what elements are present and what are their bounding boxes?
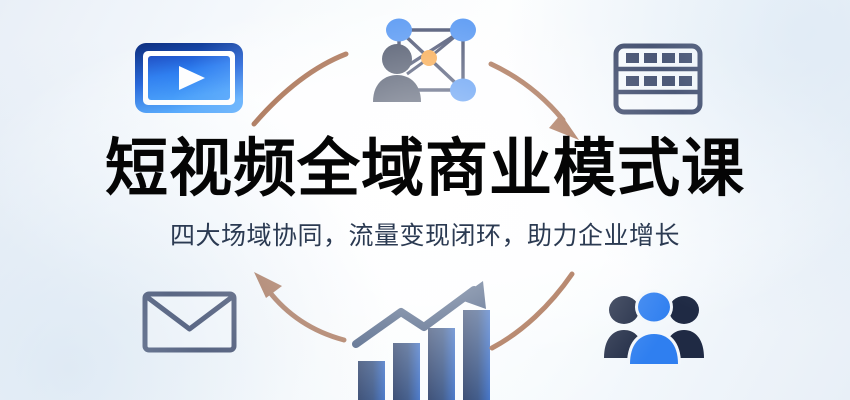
server-rack-icon <box>613 43 703 115</box>
arrow-bottom-left-icon <box>238 268 348 354</box>
user-group-icon <box>602 285 706 364</box>
envelope-icon <box>142 291 237 353</box>
page-subtitle: 四大场域协同，流量变现闭环，助力企业增长 <box>0 219 850 253</box>
arrow-top-left-icon <box>248 36 358 131</box>
arrow-bottom-right-icon <box>488 262 598 357</box>
bar-chart-growth-icon <box>352 279 500 400</box>
network-nodes-icon <box>367 8 483 112</box>
page-title: 短视频全域商业模式课 <box>0 133 850 205</box>
promo-banner: 短视频全域商业模式课 四大场域协同，流量变现闭环，助力企业增长 <box>0 0 850 400</box>
video-play-icon <box>133 41 245 115</box>
